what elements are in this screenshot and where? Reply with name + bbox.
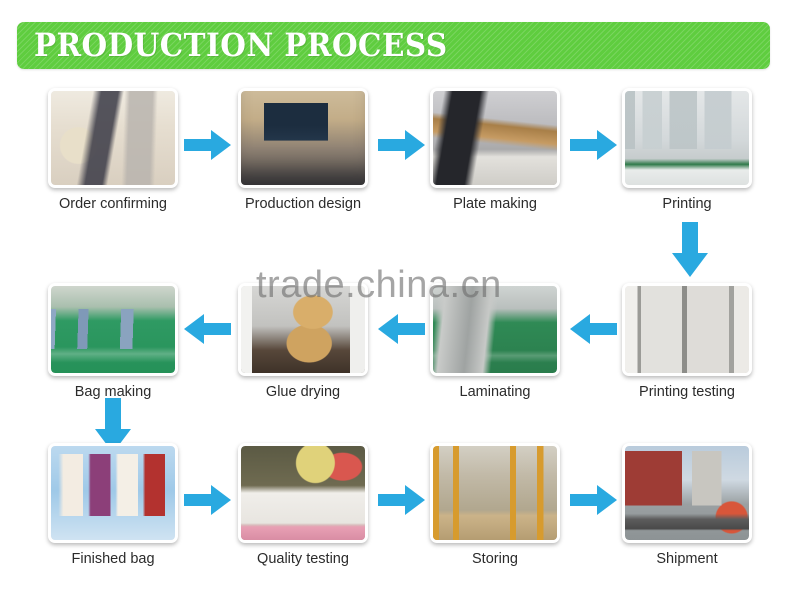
arrow-right-4 xyxy=(184,483,232,517)
step-finished-bag[interactable]: Finished bag xyxy=(48,443,178,568)
step-thumbnail xyxy=(430,443,560,543)
step-shipment[interactable]: Shipment xyxy=(622,443,752,568)
step-thumbnail xyxy=(622,88,752,188)
step-label: Order confirming xyxy=(48,195,178,213)
designer-at-computer-photo xyxy=(241,91,365,185)
plate-engraving-machine-photo xyxy=(433,91,557,185)
step-label: Finished bag xyxy=(48,550,178,568)
step-laminating[interactable]: Laminating xyxy=(430,283,560,401)
step-thumbnail xyxy=(48,443,178,543)
step-order-confirming[interactable]: Order confirming xyxy=(48,88,178,213)
finished-stand-up-pouches-photo xyxy=(51,446,175,540)
step-label: Storing xyxy=(430,550,560,568)
step-thumbnail xyxy=(48,88,178,188)
step-thumbnail xyxy=(238,283,368,376)
step-label: Laminating xyxy=(430,383,560,401)
step-label: Printing testing xyxy=(622,383,752,401)
trade-show-booth-photo xyxy=(51,91,175,185)
step-printing-testing[interactable]: Printing testing xyxy=(622,283,752,401)
step-plate-making[interactable]: Plate making xyxy=(430,88,560,213)
arrow-right-6 xyxy=(570,483,618,517)
production-process-infographic: PRODUCTION PROCESS trade.china.cn Order … xyxy=(0,0,788,601)
bag-making-workshop-photo xyxy=(51,286,175,373)
arrow-left-2 xyxy=(378,312,426,346)
step-thumbnail xyxy=(622,443,752,543)
step-quality-testing[interactable]: Quality testing xyxy=(238,443,368,568)
step-label: Production design xyxy=(238,195,368,213)
step-printing[interactable]: Printing xyxy=(622,88,752,213)
glue-drying-rollers-photo xyxy=(241,286,365,373)
step-label: Glue drying xyxy=(238,383,368,401)
step-thumbnail xyxy=(48,283,178,376)
step-glue-drying[interactable]: Glue drying xyxy=(238,283,368,401)
step-storing[interactable]: Storing xyxy=(430,443,560,568)
step-label: Quality testing xyxy=(238,550,368,568)
step-thumbnail xyxy=(430,283,560,376)
container-truck-loading-photo xyxy=(625,446,749,540)
page-title: PRODUCTION PROCESS xyxy=(34,26,448,65)
header-banner: PRODUCTION PROCESS xyxy=(17,22,770,69)
warehouse-racking-photo xyxy=(433,446,557,540)
step-label: Shipment xyxy=(622,550,752,568)
step-label: Plate making xyxy=(430,195,560,213)
qc-worker-inspecting-photo xyxy=(241,446,365,540)
row1-to-row2-down-arrow xyxy=(669,222,711,278)
laminating-machine-photo xyxy=(433,286,557,373)
arrow-right-2 xyxy=(378,128,426,162)
step-bag-making[interactable]: Bag making xyxy=(48,283,178,401)
arrow-left-3 xyxy=(570,312,618,346)
arrow-right-5 xyxy=(378,483,426,517)
step-thumbnail xyxy=(622,283,752,376)
arrow-right-1 xyxy=(184,128,232,162)
arrow-right-3 xyxy=(570,128,618,162)
arrow-left-1 xyxy=(184,312,232,346)
step-thumbnail xyxy=(238,443,368,543)
step-thumbnail xyxy=(238,88,368,188)
step-production-design[interactable]: Production design xyxy=(238,88,368,213)
step-label: Printing xyxy=(622,195,752,213)
rotogravure-printing-press-photo xyxy=(625,91,749,185)
step-thumbnail xyxy=(430,88,560,188)
printing-testing-rack-photo xyxy=(625,286,749,373)
